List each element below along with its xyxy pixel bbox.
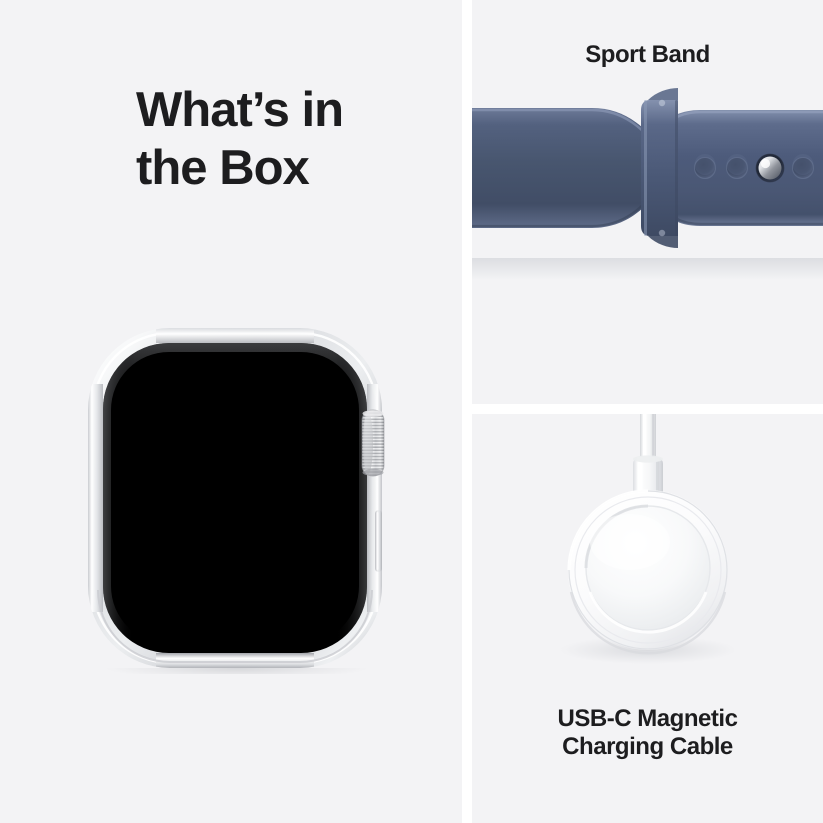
sport-band-svg (472, 0, 823, 404)
page-title-line-2: the Box (136, 141, 309, 195)
side-button (375, 510, 382, 572)
page-title: What’s in the Box (136, 82, 436, 198)
charging-cable-title: USB-C Magnetic Charging Cable (472, 705, 823, 762)
charging-cable-title-line-1: USB-C Magnetic (558, 705, 738, 732)
band-hole (695, 154, 716, 179)
band-keeper-loop (641, 88, 678, 248)
charging-cable-panel: USB-C Magnetic Charging Cable (472, 414, 823, 823)
whats-in-the-box-panel: What’s in the Box (0, 0, 462, 823)
band-hole (727, 154, 748, 179)
charging-cable-svg (472, 414, 823, 823)
watch-display (103, 343, 367, 653)
charging-cable-title-line-2: Charging Cable (562, 733, 733, 760)
whats-in-the-box-image: What’s in the Box (0, 0, 823, 823)
page-title-line-1: What’s in (136, 83, 343, 137)
magnetic-charging-puck (568, 490, 728, 653)
band-hole (793, 154, 814, 179)
band-shadow (472, 258, 823, 280)
apple-watch-image (84, 324, 390, 674)
sport-band-image (472, 0, 823, 404)
band-pin-hole (756, 154, 784, 182)
digital-crown (362, 410, 384, 476)
charging-cable-image (472, 414, 823, 823)
apple-watch-svg (84, 324, 390, 674)
charging-cord (640, 414, 656, 462)
sport-band-panel: Sport Band (472, 0, 823, 404)
